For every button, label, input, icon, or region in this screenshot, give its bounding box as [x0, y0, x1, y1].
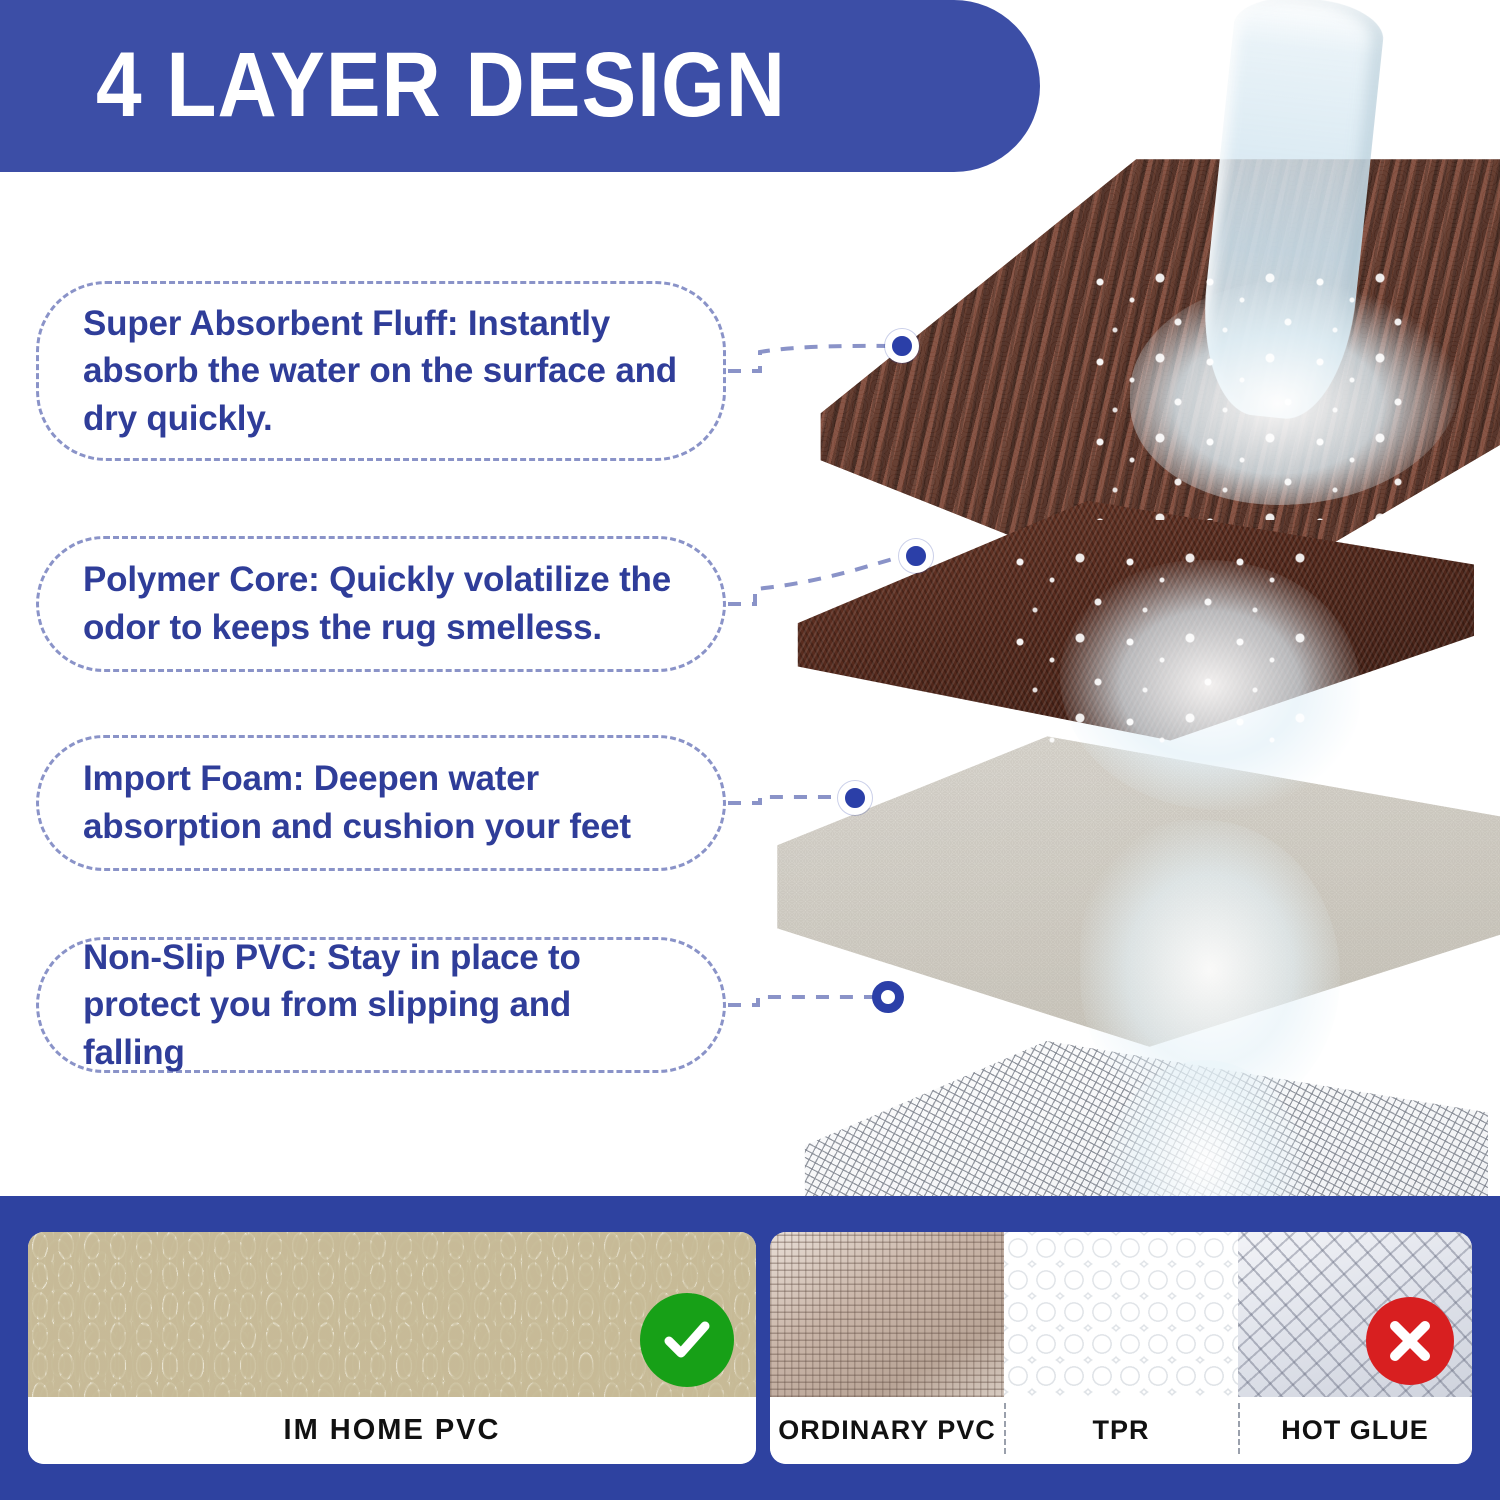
label-cell-tpr: TPR [1004, 1397, 1238, 1464]
label-cell-ordinary-pvc: ORDINARY PVC [770, 1397, 1004, 1464]
callout-non-slip-pvc: Non-Slip PVC: Stay in place to protect y… [36, 937, 726, 1073]
label-im-home-pvc: IM HOME PVC [284, 1414, 501, 1447]
layer-marker-dot-1 [885, 329, 919, 363]
callout-text: Import Foam: Deepen water absorption and… [83, 755, 679, 850]
callout-text: Super Absorbent Fluff: Instantly absorb … [83, 300, 679, 443]
comparison-card-im-home-pvc: IM HOME PVC [28, 1232, 756, 1464]
callout-polymer-core: Polymer Core: Quickly volatilize the odo… [36, 536, 726, 672]
product-layer-stack [760, 130, 1500, 1200]
label-ordinary-pvc: ORDINARY PVC [778, 1415, 996, 1446]
comparison-card-competitors: ORDINARY PVC TPR HOT GLUE [770, 1232, 1472, 1464]
callout-super-absorbent-fluff: Super Absorbent Fluff: Instantly absorb … [36, 281, 726, 461]
label-cell-hot-glue: HOT GLUE [1238, 1397, 1472, 1464]
label-row: IM HOME PVC [28, 1397, 756, 1464]
layer-marker-dot-2 [899, 539, 933, 573]
callout-import-foam: Import Foam: Deepen water absorption and… [36, 735, 726, 871]
label-tpr: TPR [1093, 1415, 1150, 1446]
swatch-row [28, 1232, 756, 1397]
callout-text: Polymer Core: Quickly volatilize the odo… [83, 556, 679, 651]
swatch-ordinary-pvc [770, 1232, 1004, 1397]
label-hot-glue: HOT GLUE [1281, 1415, 1429, 1446]
layer-marker-dot-4 [872, 981, 904, 1013]
layer-polymer-core-backing [784, 488, 1474, 743]
cross-icon [1366, 1297, 1454, 1385]
layer-marker-dot-3 [838, 781, 872, 815]
label-row: ORDINARY PVC TPR HOT GLUE [770, 1397, 1472, 1464]
callout-text: Non-Slip PVC: Stay in place to protect y… [83, 934, 679, 1077]
swatch-row [770, 1232, 1472, 1397]
comparison-band: IM HOME PVC ORDINARY PVC TPR HOT GLUE [0, 1196, 1500, 1500]
page-title: 4 LAYER DESIGN [96, 33, 786, 138]
label-cell-im-home-pvc: IM HOME PVC [28, 1397, 756, 1464]
check-icon [640, 1293, 734, 1387]
swatch-tpr [1004, 1232, 1238, 1397]
